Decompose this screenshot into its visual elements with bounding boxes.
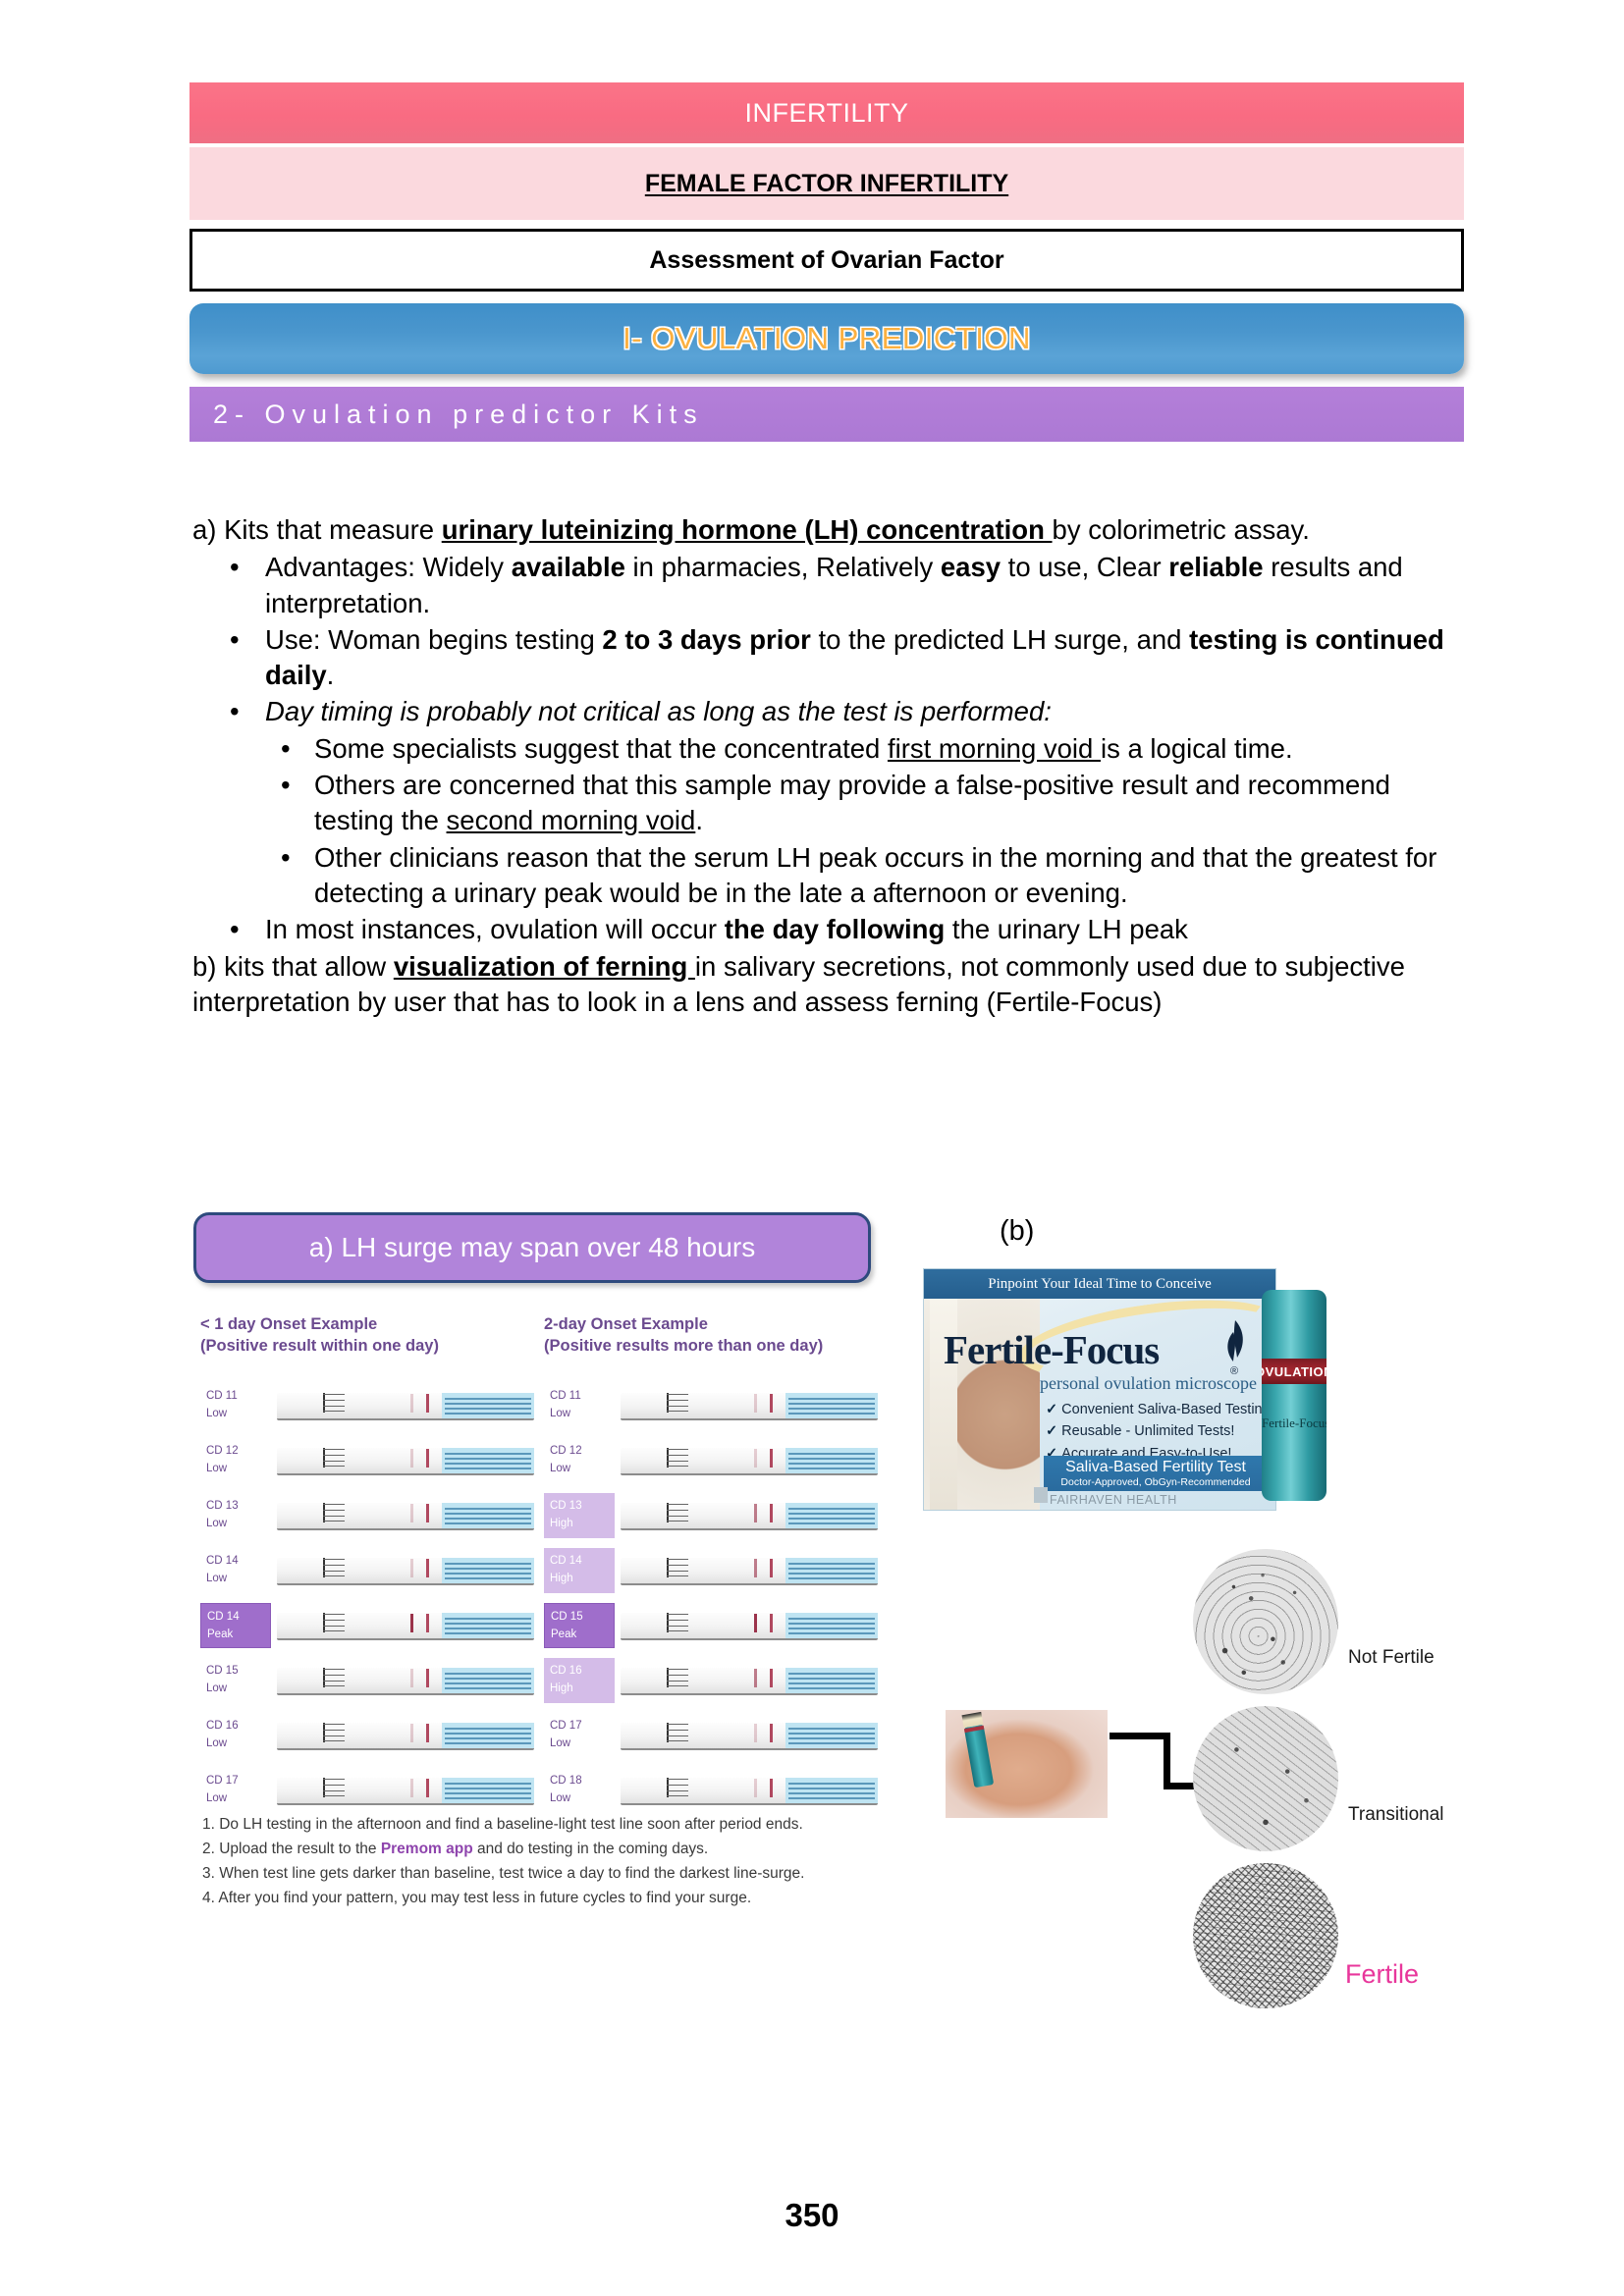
banner-subsection-predictor-kits: 2- Ovulation predictor Kits	[189, 387, 1464, 442]
strip-row: CD 16High	[544, 1655, 878, 1706]
strip-row-cassette-image	[621, 1664, 878, 1697]
hand-holding-device-photo	[946, 1710, 1108, 1818]
product-tube-band: OVULATION	[1262, 1359, 1326, 1384]
strip-row-cassette-image	[277, 1664, 534, 1697]
strip-row: CD 11Low	[200, 1380, 534, 1431]
document-page: INFERTILITY FEMALE FACTOR INFERTILITY As…	[0, 0, 1624, 2296]
ferning-pattern-group: Not Fertile Transitional Fertile	[1193, 1549, 1463, 2010]
banner-section-text: I- OVULATION PREDICTION	[623, 321, 1031, 356]
strip-row: CD 13Low	[200, 1490, 534, 1541]
strip-row-cassette-image	[621, 1609, 878, 1642]
paragraph-a-underlined: urinary luteinizing hormone (LH) concent…	[442, 514, 1053, 545]
product-ribbon: Saliva-Based Fertility Test Doctor-Appro…	[1044, 1456, 1268, 1491]
strip-row-status: Low	[206, 1461, 271, 1478]
strip-row-cassette-image	[621, 1444, 878, 1477]
strip-row-label: CD 13Low	[200, 1493, 271, 1538]
strip-row: CD 16Low	[200, 1710, 534, 1761]
banner-subsection-text: 2- Ovulation predictor Kits	[213, 400, 704, 430]
figure-a-lh-strip-chart: < 1 day Onset Example (Positive result w…	[192, 1313, 894, 1883]
ferning-circle-not-fertile	[1193, 1549, 1338, 1694]
strip-row-label: CD 14High	[544, 1548, 615, 1593]
bullet-serum-lh-peak-text: Other clinicians reason that the serum L…	[314, 840, 1449, 912]
check-icon: ✓	[1046, 1402, 1057, 1417]
banner-assessment: Assessment of Ovarian Factor	[189, 229, 1464, 292]
note-2: 2. Upload the result to the Premom app a…	[202, 1837, 880, 1861]
bullet-dot-icon: •	[230, 622, 265, 694]
strip-row-cassette-image	[277, 1719, 534, 1752]
strip-rows-left: CD 11LowCD 12LowCD 13LowCD 14LowCD 14Pea…	[200, 1380, 534, 1816]
ferning-item-fertile: Fertile	[1193, 1863, 1338, 2008]
strip-row-cassette-image	[277, 1389, 534, 1422]
strip-row-cycle-day: CD 12	[206, 1443, 271, 1461]
strip-row-cycle-day: CD 14	[207, 1609, 270, 1627]
strip-row-label: CD 14Peak	[200, 1603, 271, 1648]
strip-row-cycle-day: CD 14	[550, 1553, 615, 1571]
strip-column-right-header: 2-day Onset Example (Positive results mo…	[544, 1313, 878, 1361]
bullet-advantages: • Advantages: Widely available in pharma…	[230, 550, 1449, 621]
strip-row-status: Peak	[551, 1627, 614, 1644]
ovulation-microscope-device	[964, 1725, 994, 1789]
strip-row-cycle-day: CD 13	[206, 1498, 271, 1516]
ferning-circle-transitional	[1193, 1706, 1338, 1851]
banner-section-ovulation-prediction: I- OVULATION PREDICTION	[189, 303, 1464, 374]
paragraph-b-underlined: visualization of ferning	[394, 951, 695, 982]
product-tagline: Pinpoint Your Ideal Time to Conceive	[924, 1269, 1275, 1299]
strip-row-label: CD 18Low	[544, 1768, 615, 1813]
page-number: 350	[0, 2197, 1624, 2234]
check-icon: ✓	[1046, 1423, 1057, 1439]
strip-row-cassette-image	[277, 1444, 534, 1477]
strip-row: CD 14Peak	[200, 1600, 534, 1651]
strip-row-status: Low	[550, 1790, 615, 1808]
banner-assessment-text: Assessment of Ovarian Factor	[649, 246, 1003, 275]
bullet-dot-icon: •	[230, 912, 265, 947]
strip-row-label: CD 17Low	[200, 1768, 271, 1813]
figure-a-caption-text: a) LH surge may span over 48 hours	[309, 1232, 755, 1263]
strip-row-status: High	[550, 1571, 615, 1588]
note-3: 3. When test line gets darker than basel…	[202, 1861, 880, 1886]
strip-column-left-header: < 1 day Onset Example (Positive result w…	[200, 1313, 534, 1361]
paragraph-a-pre: a) Kits that measure	[192, 514, 442, 545]
strip-row-cycle-day: CD 18	[550, 1773, 615, 1790]
bullet-dot-icon: •	[281, 768, 314, 839]
ferning-label-fertile: Fertile	[1345, 1959, 1419, 1990]
product-subtitle: personal ovulation microscope	[1040, 1373, 1257, 1394]
product-brand: FAIRHAVEN HEALTH	[1050, 1493, 1177, 1507]
product-feature-2: ✓Reusable - Unlimited Tests!	[1046, 1420, 1271, 1442]
strip-row-label: CD 16Low	[200, 1713, 271, 1758]
strip-row: CD 18Low	[544, 1765, 878, 1816]
bullet-most-instances: • In most instances, ovulation will occu…	[230, 912, 1449, 947]
strip-row-label: CD 15Peak	[544, 1603, 615, 1648]
ferning-label-transitional: Transitional	[1348, 1804, 1444, 1826]
strip-row-status: Low	[206, 1681, 271, 1698]
product-ribbon-line-2: Doctor-Approved, ObGyn-Recommended	[1044, 1476, 1268, 1488]
paragraph-a: a) Kits that measure urinary luteinizing…	[192, 512, 1449, 548]
banner-infertility: INFERTILITY	[189, 82, 1464, 143]
strip-row-status: Low	[550, 1406, 615, 1423]
ferning-item-transitional: Transitional	[1193, 1706, 1338, 1851]
banner-stack: INFERTILITY FEMALE FACTOR INFERTILITY As…	[189, 82, 1464, 442]
bullet-dot-icon: •	[281, 731, 314, 767]
ferning-label-not-fertile: Not Fertile	[1348, 1647, 1435, 1669]
bullet-second-morning-void-text: Others are concerned that this sample ma…	[314, 768, 1449, 839]
bullet-advantages-text: Advantages: Widely available in pharmaci…	[265, 550, 1449, 621]
strip-row-status: High	[550, 1516, 615, 1533]
strip-row-cycle-day: CD 12	[550, 1443, 615, 1461]
product-feature-1: ✓Convenient Saliva-Based Testing	[1046, 1399, 1271, 1420]
product-tube: OVULATION Fertile-Focus	[1262, 1290, 1326, 1501]
strip-row-label: CD 13High	[544, 1493, 615, 1538]
bullet-most-instances-text: In most instances, ovulation will occur …	[265, 912, 1449, 947]
bullet-second-morning-void: • Others are concerned that this sample …	[281, 768, 1449, 839]
bullet-first-morning-void: • Some specialists suggest that the conc…	[281, 731, 1449, 767]
bullet-day-timing-text: Day timing is probably not critical as l…	[265, 694, 1449, 729]
strip-row-cycle-day: CD 16	[550, 1663, 615, 1681]
banner-female-factor: FEMALE FACTOR INFERTILITY	[189, 147, 1464, 220]
strip-row: CD 14Low	[200, 1545, 534, 1596]
note-4: 4. After you find your pattern, you may …	[202, 1886, 880, 1910]
strip-row-status: Low	[206, 1790, 271, 1808]
strip-row-cassette-image	[277, 1609, 534, 1642]
strip-row-cycle-day: CD 13	[550, 1498, 615, 1516]
leaf-icon	[1224, 1320, 1246, 1363]
strip-row-label: CD 15Low	[200, 1658, 271, 1703]
bullet-use-text: Use: Woman begins testing 2 to 3 days pr…	[265, 622, 1449, 694]
strip-row-label: CD 11Low	[200, 1383, 271, 1428]
strip-row-cassette-image	[621, 1719, 878, 1752]
bullet-serum-lh-peak: • Other clinicians reason that the serum…	[281, 840, 1449, 912]
strip-row-label: CD 17Low	[544, 1713, 615, 1758]
strip-row-cycle-day: CD 15	[551, 1609, 614, 1627]
strip-row-status: High	[550, 1681, 615, 1698]
strip-row-cassette-image	[277, 1499, 534, 1532]
strip-row-cassette-image	[277, 1774, 534, 1807]
strip-row-cycle-day: CD 11	[206, 1388, 271, 1406]
strip-row-label: CD 12Low	[544, 1438, 615, 1483]
strip-row-label: CD 16High	[544, 1658, 615, 1703]
ferning-circle-fertile	[1193, 1863, 1338, 2008]
strip-row-cassette-image	[621, 1499, 878, 1532]
strip-row-label: CD 14Low	[200, 1548, 271, 1593]
bullet-use: • Use: Woman begins testing 2 to 3 days …	[230, 622, 1449, 694]
bullet-day-timing: • Day timing is probably not critical as…	[230, 694, 1449, 729]
figure-a-caption-box: a) LH surge may span over 48 hours	[193, 1212, 871, 1283]
ferning-item-not-fertile: Not Fertile	[1193, 1549, 1338, 1694]
body-content: a) Kits that measure urinary luteinizing…	[192, 512, 1449, 1022]
strip-row-cassette-image	[621, 1774, 878, 1807]
strip-column-left: < 1 day Onset Example (Positive result w…	[200, 1313, 534, 1820]
strip-row-cycle-day: CD 16	[206, 1718, 271, 1735]
strip-row-status: Low	[206, 1571, 271, 1588]
figure-a-instruction-notes: 1. Do LH testing in the afternoon and fi…	[202, 1812, 880, 1910]
product-ribbon-line-1: Saliva-Based Fertility Test	[1044, 1459, 1268, 1476]
strip-rows-right: CD 11LowCD 12LowCD 13HighCD 14HighCD 15P…	[544, 1380, 878, 1816]
product-tube-text: Fertile-Focus	[1262, 1415, 1326, 1431]
strip-row-cycle-day: CD 17	[550, 1718, 615, 1735]
strip-row-cycle-day: CD 11	[550, 1388, 615, 1406]
strip-row: CD 14High	[544, 1545, 878, 1596]
paragraph-b-pre: b) kits that allow	[192, 951, 394, 982]
strip-row-status: Low	[206, 1406, 271, 1423]
banner-infertility-text: INFERTILITY	[744, 98, 908, 129]
strip-row: CD 17Low	[200, 1765, 534, 1816]
strip-row-cassette-image	[277, 1554, 534, 1587]
strip-row-cycle-day: CD 14	[206, 1553, 271, 1571]
strip-row-status: Low	[550, 1461, 615, 1478]
bullet-dot-icon: •	[230, 550, 265, 621]
premom-app-brand: Premom app	[381, 1841, 473, 1857]
strip-row-cycle-day: CD 17	[206, 1773, 271, 1790]
product-carton: Pinpoint Your Ideal Time to Conceive Fer…	[923, 1268, 1276, 1511]
fairhaven-logo-icon	[1034, 1487, 1048, 1503]
fertile-focus-product-photo: Pinpoint Your Ideal Time to Conceive Fer…	[923, 1268, 1345, 1509]
bullet-dot-icon: •	[281, 840, 314, 912]
banner-female-factor-text: FEMALE FACTOR INFERTILITY	[645, 170, 1008, 198]
strip-row-status: Peak	[207, 1627, 270, 1644]
product-title: Fertile-Focus	[944, 1326, 1159, 1373]
paragraph-b: b) kits that allow visualization of fern…	[192, 949, 1449, 1021]
strip-row-status: Low	[206, 1735, 271, 1753]
strip-row-label: CD 12Low	[200, 1438, 271, 1483]
strip-row: CD 13High	[544, 1490, 878, 1541]
strip-row-cassette-image	[621, 1554, 878, 1587]
paragraph-a-post: by colorimetric assay.	[1053, 514, 1310, 545]
strip-row: CD 12Low	[544, 1435, 878, 1486]
strip-row-status: Low	[550, 1735, 615, 1753]
strip-row: CD 15Low	[200, 1655, 534, 1706]
strip-row-status: Low	[206, 1516, 271, 1533]
strip-row: CD 17Low	[544, 1710, 878, 1761]
strip-row-cassette-image	[621, 1389, 878, 1422]
strip-row: CD 12Low	[200, 1435, 534, 1486]
strip-row-label: CD 11Low	[544, 1383, 615, 1428]
note-1: 1. Do LH testing in the afternoon and fi…	[202, 1812, 880, 1837]
strip-row: CD 11Low	[544, 1380, 878, 1431]
bullet-first-morning-void-text: Some specialists suggest that the concen…	[314, 731, 1449, 767]
strip-column-right: 2-day Onset Example (Positive results mo…	[544, 1313, 878, 1820]
bullet-dot-icon: •	[230, 694, 265, 729]
strip-row-cycle-day: CD 15	[206, 1663, 271, 1681]
figure-b-label: (b)	[1000, 1215, 1034, 1248]
strip-row: CD 15Peak	[544, 1600, 878, 1651]
